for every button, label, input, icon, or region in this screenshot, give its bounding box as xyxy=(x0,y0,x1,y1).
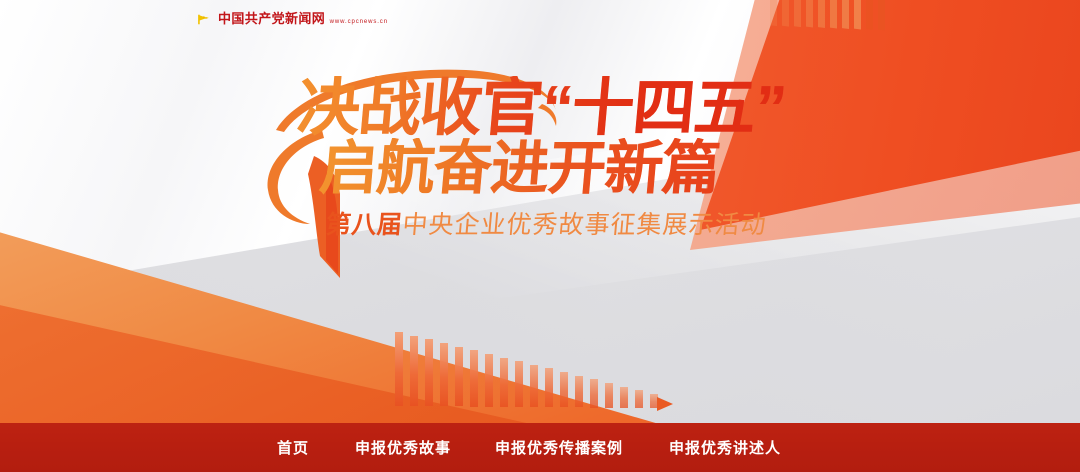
site-logo-url: www.cpcnews.cn xyxy=(330,19,388,25)
headline-line-1: 决战收官“十四五” xyxy=(295,76,891,142)
headline-line-2: 启航奋进开新篇 xyxy=(317,138,890,200)
headline-subtitle: 第八届中央企业优秀故事征集展示活动 xyxy=(325,210,890,240)
party-emblem-icon xyxy=(196,11,213,28)
nav-item-home[interactable]: 首页 xyxy=(277,437,309,458)
subtitle-edition: 第八届 xyxy=(325,211,404,239)
nav-item-submit-storyteller[interactable]: 申报优秀讲述人 xyxy=(669,437,781,458)
bottom-stripe-comb xyxy=(395,326,695,431)
site-logo[interactable]: 中国共产党新闻网 www.cpcnews.cn xyxy=(196,6,388,32)
site-logo-name: 中国共产党新闻网 xyxy=(218,11,325,26)
top-stripe-comb xyxy=(770,0,890,44)
nav-item-submit-communication-case[interactable]: 申报优秀传播案例 xyxy=(495,437,623,458)
site-banner: 中国共产党新闻网 www.cpcnews.cn 决战收官“十四五” 启航奋进开新… xyxy=(0,0,1080,472)
nav-item-submit-story[interactable]: 申报优秀故事 xyxy=(355,437,451,458)
site-logo-text: 中国共产党新闻网 www.cpcnews.cn xyxy=(218,11,388,27)
nav-items: 首页 申报优秀故事 申报优秀传播案例 申报优秀讲述人 xyxy=(277,437,781,458)
main-navigation: 首页 申报优秀故事 申报优秀传播案例 申报优秀讲述人 xyxy=(0,423,1080,472)
arrow-right-icon xyxy=(657,397,673,411)
banner-headline: 决战收官“十四五” 启航奋进开新篇 第八届中央企业优秀故事征集展示活动 xyxy=(288,76,888,286)
subtitle-text: 中央企业优秀故事征集展示活动 xyxy=(401,211,767,239)
